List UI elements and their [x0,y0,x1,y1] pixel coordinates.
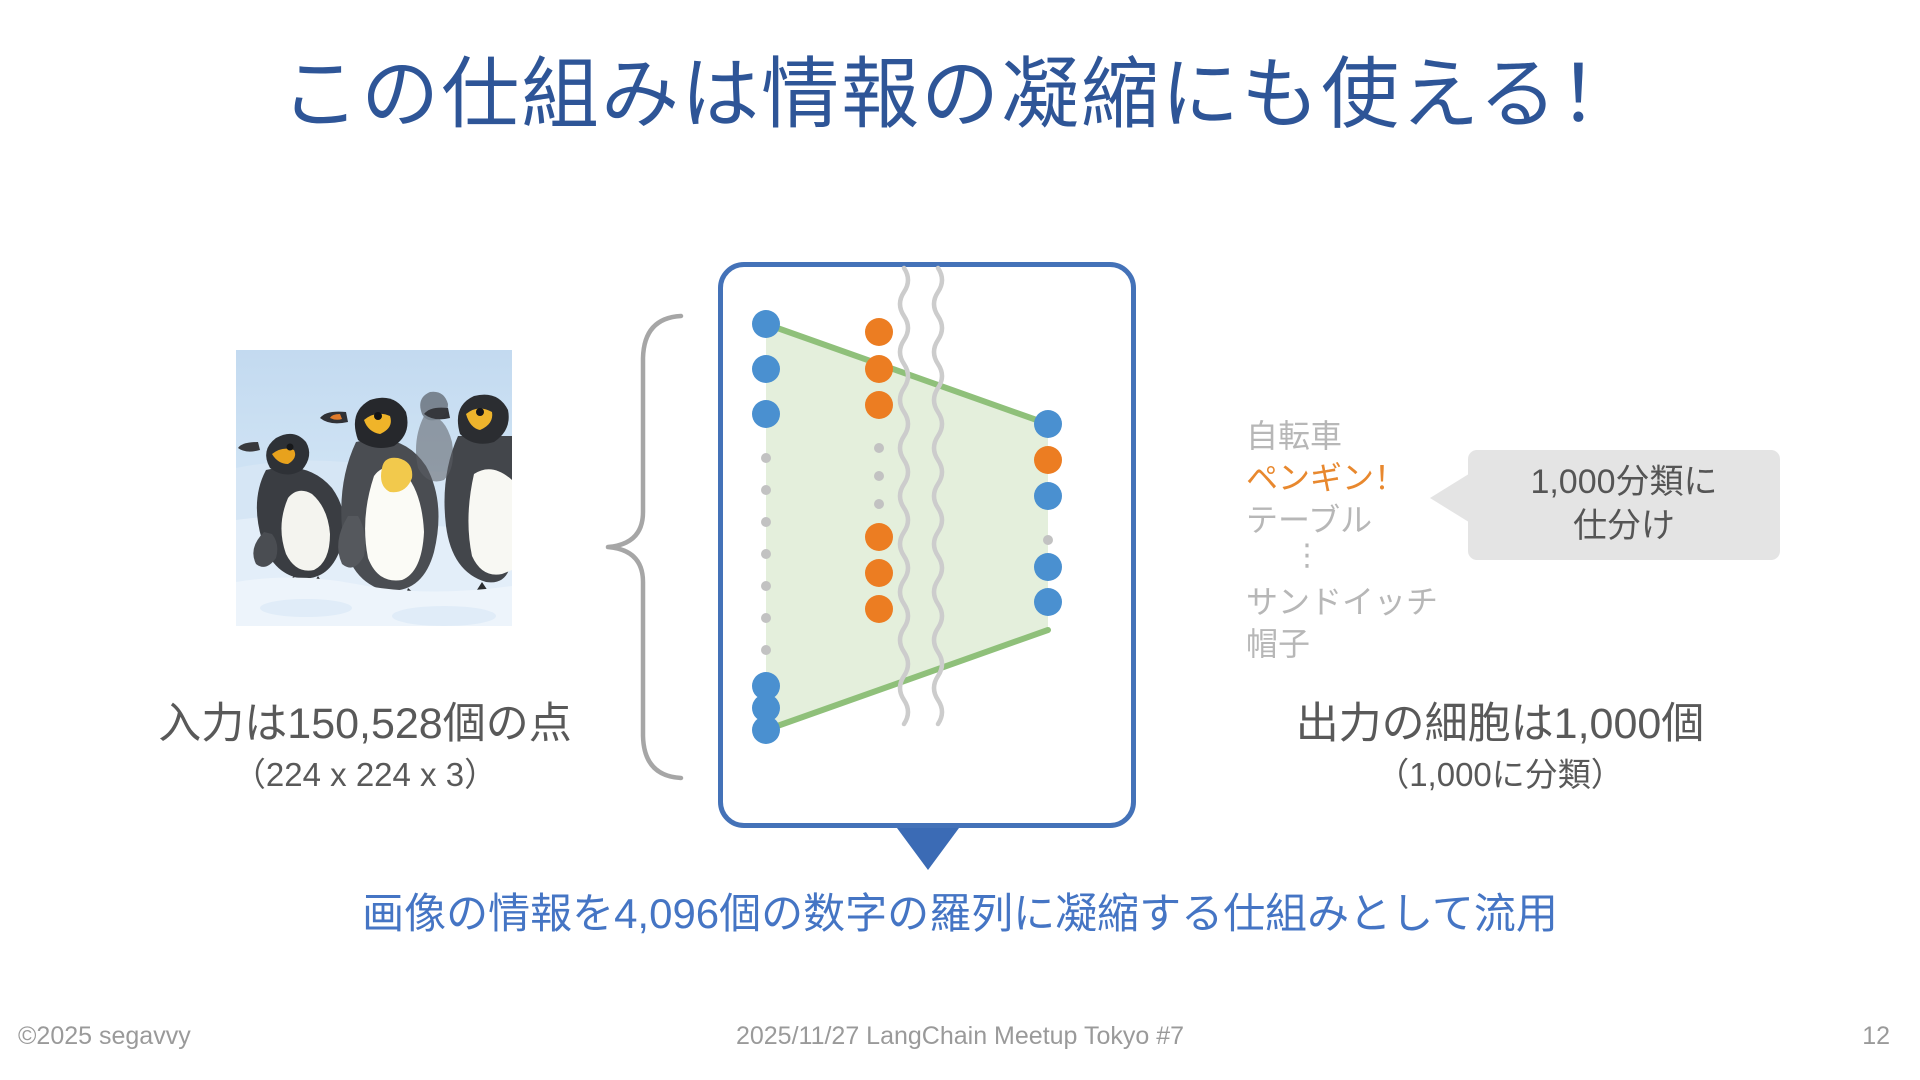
input-caption-sub: （224 x 224 x 3） [110,754,620,797]
class-label-item: 自転車 [1246,415,1496,457]
page-title: この仕組みは情報の凝縮にも使える！ [0,52,1920,138]
penguins-photo [236,350,512,626]
output-caption: 出力の細胞は1,000個 （1,000に分類） [1230,700,1770,797]
output-caption-sub: （1,000に分類） [1230,754,1770,797]
summary-text: 画像の情報を4,096個の数字の羅列に凝縮する仕組みとして流用 [0,880,1920,941]
class-label-ellipsis: ⋮ [1246,541,1368,581]
callout-line-2: 仕分け [1530,505,1717,549]
output-caption-main: 出力の細胞は1,000個 [1230,700,1770,749]
class-label-item: 帽子 [1246,623,1496,665]
input-caption-main: 入力は150,528個の点 [110,700,620,749]
callout-bubble: 1,000分類に 仕分け [1468,450,1780,560]
footer-event: 2025/11/27 LangChain Meetup Tokyo #7 [0,1022,1920,1051]
class-label-item: サンドイッチ [1246,581,1496,623]
down-arrow-icon [893,826,963,876]
neural-network-diagram [718,262,1136,828]
slide-canvas: この仕組みは情報の凝縮にも使える！ [0,0,1920,1080]
callout-tail-glyph [1430,470,1472,526]
callout-tail-icon [1430,470,1472,526]
callout-line-1: 1,000分類に [1530,461,1717,505]
penguins-photo-graphic [236,350,512,626]
down-arrow-glyph [893,826,963,876]
input-caption: 入力は150,528個の点 （224 x 224 x 3） [110,700,620,797]
footer-page-number: 12 [1862,1022,1890,1051]
class-label-list: 自転車 ペンギン！ テーブル ⋮ サンドイッチ 帽子 [1246,415,1496,665]
